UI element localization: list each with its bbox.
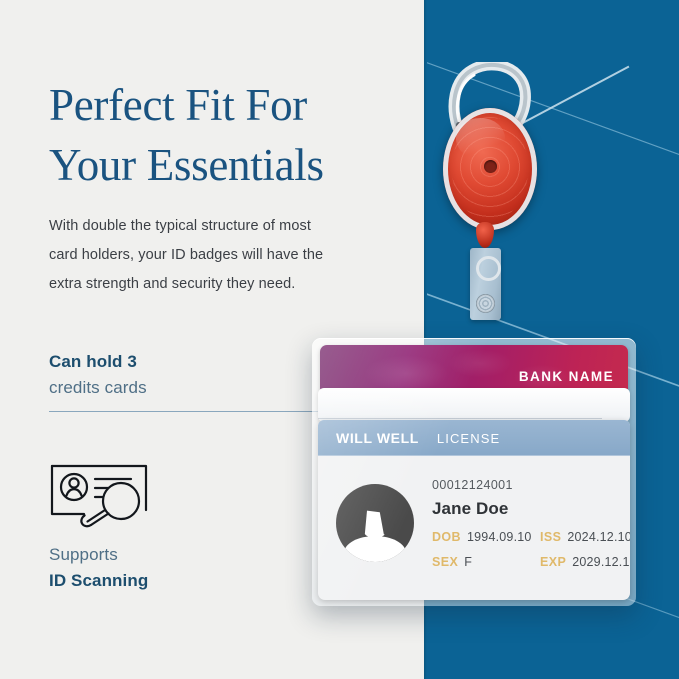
strap-snap-button xyxy=(476,294,495,313)
license-id-number: 00012124001 xyxy=(432,478,630,492)
license-field-iss-label: ISS xyxy=(540,530,561,544)
vinyl-strap xyxy=(470,248,501,320)
id-scan-icon xyxy=(49,463,149,529)
blank-white-card xyxy=(318,388,630,422)
license-holder-name: Jane Doe xyxy=(432,499,630,519)
license-field-exp: EXP 2029.12.10 xyxy=(540,555,630,569)
license-field-row: SEX F EXP 2029.12.10 xyxy=(432,555,630,569)
license-fields: 00012124001 Jane Doe DOB 1994.09.10 ISS … xyxy=(432,472,630,600)
license-field-sex: SEX F xyxy=(432,555,540,569)
license-field-sex-label: SEX xyxy=(432,555,458,569)
page-title: Perfect Fit For Your Essentials xyxy=(49,76,379,196)
license-issuer: WILL WELL xyxy=(336,430,419,446)
avatar-shoulders xyxy=(344,536,406,562)
license-field-dob-label: DOB xyxy=(432,530,461,544)
feature-scanning-bottom: ID Scanning xyxy=(49,571,309,591)
reel-cord-stopper xyxy=(476,222,494,248)
product-feature-image: Perfect Fit For Your Essentials With dou… xyxy=(0,0,679,679)
license-field-exp-label: EXP xyxy=(540,555,566,569)
license-field-exp-value: 2029.12.10 xyxy=(572,555,630,569)
license-field-dob: DOB 1994.09.10 xyxy=(432,530,540,544)
license-header: WILL WELL LICENSE xyxy=(318,420,630,456)
headline-line-2: Your Essentials xyxy=(49,136,379,196)
feature-capacity-sub: credits cards xyxy=(49,378,349,398)
license-field-iss: ISS 2024.12.10 xyxy=(540,530,630,544)
bank-card-label: BANK NAME xyxy=(519,369,614,384)
license-field-iss-value: 2024.12.10 xyxy=(567,530,630,544)
feature-capacity-strong: Can hold 3 xyxy=(49,352,349,372)
reel-hub xyxy=(484,160,497,173)
feature-capacity: Can hold 3 credits cards xyxy=(49,352,349,398)
strap-ring xyxy=(476,256,501,281)
divider-line xyxy=(49,411,339,412)
bank-card: BANK NAME xyxy=(320,345,628,391)
license-card: WILL WELL LICENSE 00012124001 Jane Doe D… xyxy=(318,420,630,600)
license-field-dob-value: 1994.09.10 xyxy=(467,530,532,544)
feature-scanning: Supports ID Scanning xyxy=(49,545,309,591)
feature-scanning-top: Supports xyxy=(49,545,309,565)
clear-card-holder: BANK NAME WILL WELL LICENSE 00012124001 … xyxy=(312,338,636,606)
reel-gloss xyxy=(456,118,505,159)
headline-line-1: Perfect Fit For xyxy=(49,76,379,136)
license-field-sex-value: F xyxy=(464,555,472,569)
license-body: 00012124001 Jane Doe DOB 1994.09.10 ISS … xyxy=(318,456,630,600)
license-doc-type: LICENSE xyxy=(437,431,500,446)
badge-reel-assembly xyxy=(424,62,564,362)
badge-reel-body xyxy=(443,108,537,230)
avatar xyxy=(336,484,414,562)
license-field-row: DOB 1994.09.10 ISS 2024.12.10 xyxy=(432,530,630,544)
body-paragraph: With double the typical structure of mos… xyxy=(49,212,324,299)
